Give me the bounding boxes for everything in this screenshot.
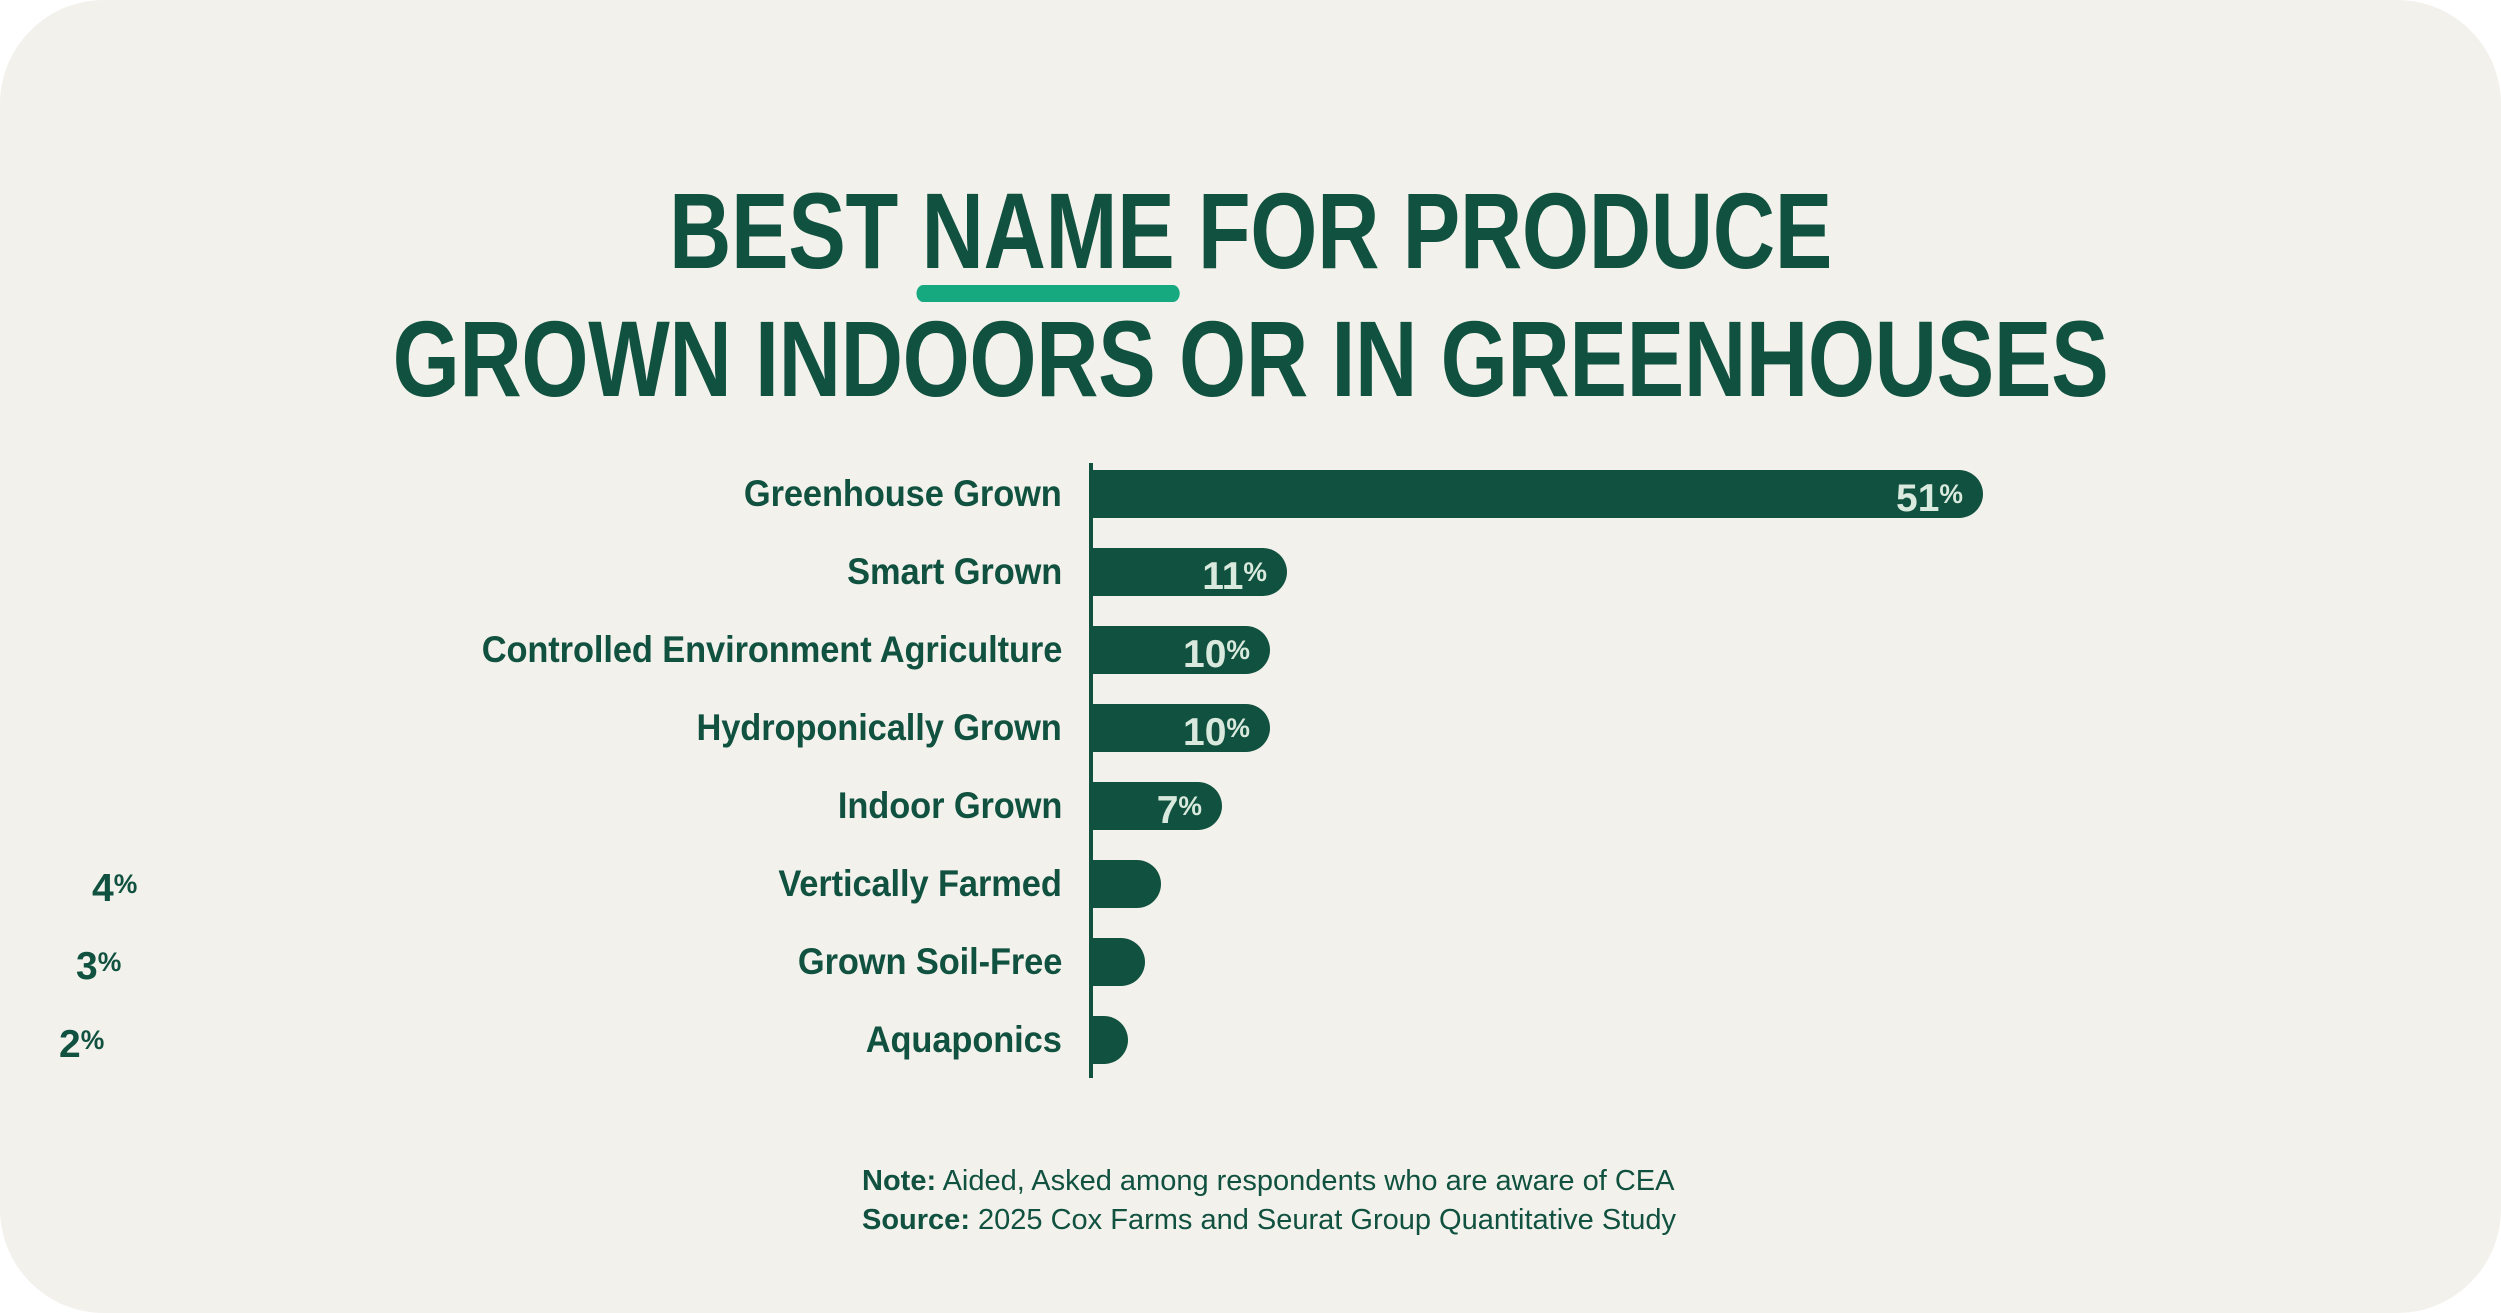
bar: 11%: [1091, 548, 1287, 596]
bar-row: Controlled Environment Agriculture10%: [0, 626, 2501, 704]
bar-row: Hydroponically Grown10%: [0, 704, 2501, 782]
bar-value-number: 3: [76, 945, 98, 988]
footnote-note-key: Note:: [862, 1165, 936, 1197]
bar: 51%: [1091, 470, 1983, 518]
bar-track: 11%: [1091, 548, 1287, 596]
bar-category-label: Hydroponically Grown: [697, 704, 1062, 752]
footnote-source-value: 2025 Cox Farms and Seurat Group Quantita…: [970, 1204, 1676, 1236]
bar-category-label: Grown Soil-Free: [798, 938, 1062, 986]
bar-value-percent-sign: %: [1178, 791, 1202, 821]
bar-row: Smart Grown11%: [0, 548, 2501, 626]
footnote-block: Note: Aided, Asked among respondents who…: [862, 1162, 2062, 1240]
bar-track: 10%: [1091, 704, 1270, 752]
infographic-card: BEST NAME FOR PRODUCE GROWN INDOORS OR I…: [0, 0, 2501, 1313]
bar-rows-container: Greenhouse Grown51%Smart Grown11%Control…: [0, 470, 2501, 1094]
bar-track: [1091, 1016, 1128, 1064]
bar-value-percent-sign: %: [1243, 557, 1267, 587]
bar-value-label: 3%: [76, 938, 121, 986]
bar-category-label: Aquaponics: [866, 1016, 1062, 1064]
bar-track: [1091, 938, 1145, 986]
bar-category-label: Greenhouse Grown: [744, 470, 1062, 518]
bar-chart: Greenhouse Grown51%Smart Grown11%Control…: [0, 458, 2501, 1078]
title-underlined-word-wrapper: NAME: [922, 186, 1175, 276]
title-text-before: BEST: [669, 170, 921, 291]
bar-track: [1091, 860, 1161, 908]
footnote-note-value: Aided, Asked among respondents who are a…: [936, 1165, 1674, 1197]
bar: [1091, 938, 1145, 986]
title-underlined-word: NAME: [922, 170, 1175, 291]
bar-value-number: 7: [1157, 789, 1179, 832]
bar-value-number: 11: [1202, 555, 1243, 598]
bar-value-number: 4: [92, 867, 114, 910]
bar-value-label: 51%: [1896, 470, 1963, 518]
bar-row: Vertically Farmed4%: [0, 860, 2501, 938]
bar-row: Grown Soil-Free3%: [0, 938, 2501, 1016]
bar-value-percent-sign: %: [1939, 479, 1963, 509]
bar-value-label: 4%: [92, 860, 137, 908]
bar-value-number: 10: [1183, 633, 1226, 676]
footnote-source-key: Source:: [862, 1204, 970, 1236]
footnote-note-line: Note: Aided, Asked among respondents who…: [862, 1162, 2062, 1201]
title-text-after: FOR PRODUCE: [1174, 170, 1832, 291]
bar-value-percent-sign: %: [1226, 713, 1250, 743]
chart-title-block: BEST NAME FOR PRODUCE GROWN INDOORS OR I…: [0, 186, 2501, 404]
bar-value-number: 2: [59, 1023, 81, 1066]
bar-value-label: 10%: [1183, 704, 1250, 752]
bar-value-label: 11%: [1202, 548, 1267, 596]
title-line-2: GROWN INDOORS OR IN GREENHOUSES: [250, 314, 2251, 404]
bar-category-label: Controlled Environment Agriculture: [481, 626, 1062, 674]
bar: [1091, 860, 1161, 908]
bar-row: Aquaponics2%: [0, 1016, 2501, 1094]
bar-value-number: 10: [1183, 711, 1226, 754]
bar-category-label: Smart Grown: [847, 548, 1062, 596]
bar-row: Greenhouse Grown51%: [0, 470, 2501, 548]
bar: 10%: [1091, 626, 1270, 674]
bar: [1091, 1016, 1128, 1064]
bar-value-percent-sign: %: [81, 1025, 105, 1055]
bar-value-number: 51: [1896, 477, 1939, 520]
bar-row: Indoor Grown7%: [0, 782, 2501, 860]
bar-track: 10%: [1091, 626, 1270, 674]
footnote-source-line: Source: 2025 Cox Farms and Seurat Group …: [862, 1201, 2062, 1240]
bar-track: 7%: [1091, 782, 1222, 830]
bar-value-label: 10%: [1183, 626, 1250, 674]
bar-category-label: Indoor Grown: [838, 782, 1062, 830]
bar-value-percent-sign: %: [98, 947, 122, 977]
bar-value-percent-sign: %: [114, 869, 138, 899]
bar-value-label: 7%: [1157, 782, 1202, 830]
bar-value-percent-sign: %: [1226, 635, 1250, 665]
bar-category-label: Vertically Farmed: [779, 860, 1062, 908]
bar-value-label: 2%: [59, 1016, 104, 1064]
bar-track: 51%: [1091, 470, 1983, 518]
title-line-1: BEST NAME FOR PRODUCE: [250, 186, 2251, 276]
bar: 10%: [1091, 704, 1270, 752]
bar: 7%: [1091, 782, 1222, 830]
